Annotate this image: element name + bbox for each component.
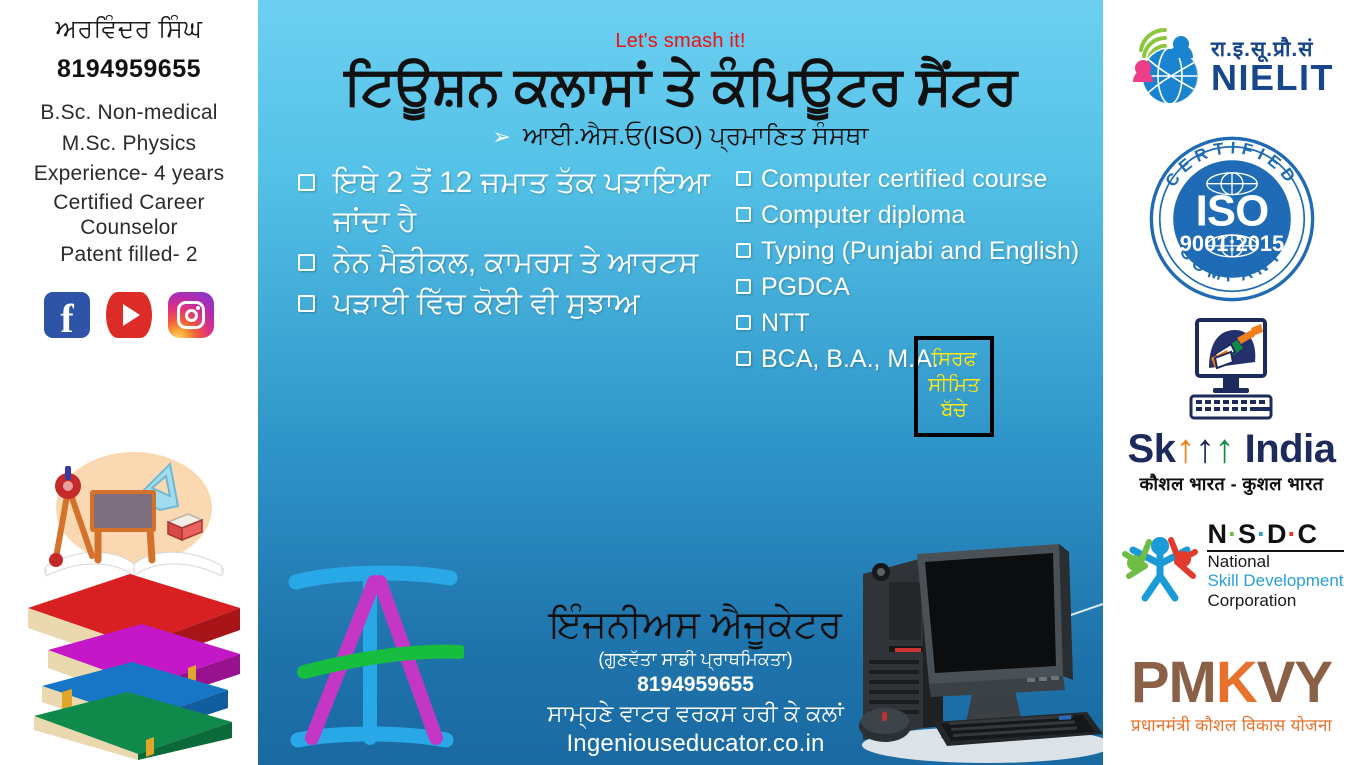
checkbox-icon <box>298 254 315 271</box>
arrow-bullet-icon: ➢ <box>492 124 510 149</box>
list-item: PGDCA <box>736 271 1081 304</box>
credential-5: Patent filled- 2 <box>0 240 258 270</box>
checkbox-icon <box>298 174 315 191</box>
list-item-label: Computer certified course <box>761 163 1047 196</box>
right-sidebar-logos: रा.इ.सू.प्रौ.सं NIELIT CERTIFIED COMPANY <box>1103 0 1360 765</box>
checkbox-icon <box>298 295 315 312</box>
list-item-label: BCA, B.A., M.A. <box>761 343 939 376</box>
list-item: BCA, B.A., M.A. <box>736 343 1081 376</box>
skill-india-bar-green: ↑ <box>1214 427 1234 471</box>
pmkvy-k-figure: K <box>1216 650 1257 715</box>
skill-india-subtitle: कौशल भारत - कुशल भारत <box>1128 472 1336 496</box>
nsdc-line-1: National <box>1207 552 1343 572</box>
skill-india-wrap: Sk↑↑↑ India कौशल भारत - कुशल भारत <box>1128 318 1336 496</box>
iso-center-text: ISO <box>1195 186 1268 235</box>
iso-certified-badge: CERTIFIED COMPANY ISO 9001:2015 <box>1107 126 1357 311</box>
iso-certification-line: ➢ਆਈ.ਐਸ.ਓ(ISO) ਪ੍ਰਮਾਣਿਤ ਸੰਸਥਾ <box>258 122 1103 151</box>
tutor-phone: 8194959655 <box>0 55 258 84</box>
brand-name: ਇੰਜਨੀਅਸ ਐਜੂਕੇਟਰ <box>288 605 1103 647</box>
nsdc-logo: N·S·D·C National Skill Development Corpo… <box>1107 503 1357 628</box>
tutor-name: ਅਰਵਿੰਦਰ ਸਿੰਘ <box>0 14 258 45</box>
list-item: ਪੜਾਈ ਵਿੱਚ ਕੋਈ ਵੀ ਸੁਝਾਅ <box>298 284 714 323</box>
pmkvy-wrap: PMKVY प्रधानमंत्री कौशल विकास योजना <box>1131 655 1332 735</box>
pmkvy-subtitle: प्रधानमंत्री कौशल विकास योजना <box>1131 713 1332 736</box>
checkbox-icon <box>736 315 751 330</box>
nsdc-wrap: N·S·D·C National Skill Development Corpo… <box>1119 520 1343 611</box>
page-title: ਟਿਊਸ਼ਨ ਕਲਾਸਾਂ ਤੇ ਕੰਪਿਊਟਰ ਸੈਂਟਰ <box>258 57 1103 116</box>
credential-0: B.Sc. Non-medical <box>0 98 258 128</box>
iso-certification-text: ਆਈ.ਐਸ.ਓ(ISO) ਪ੍ਰਮਾਣਿਤ ਸੰਸਥਾ <box>523 122 869 150</box>
credential-1: M.Sc. Physics <box>0 129 258 159</box>
brand-tagline: (ਗੁਣਵੱਤਾ ਸਾਡੀ ਪ੍ਰਾਥਮਿਕਤਾ) <box>288 649 1103 671</box>
skill-india-logo: Sk↑↑↑ India कौशल भारत - कुशल भारत <box>1107 311 1357 503</box>
list-item: Computer diploma <box>736 199 1081 232</box>
pmkvy-logo: PMKVY प्रधानमंत्री कौशल विकास योजना <box>1107 628 1357 763</box>
facebook-icon[interactable]: f <box>44 292 90 338</box>
brand-address: ਸਾਮ੍ਹਣੇ ਵਾਟਰ ਵਰਕਸ ਹਰੀ ਕੇ ਕਲਾਂ <box>288 699 1103 728</box>
poster-root: ਅਰਵਿੰਦਰ ਸਿੰਘ 8194959655 B.Sc. Non-medica… <box>0 0 1360 765</box>
checkbox-icon <box>736 243 751 258</box>
tagline: Let's smash it! <box>258 0 1103 51</box>
credential-3: Certified Career <box>0 190 258 215</box>
skill-india-bar-navy: ↑ <box>1195 427 1215 471</box>
instagram-icon[interactable] <box>168 292 214 338</box>
brand-block: ਇੰਜਨੀਅਸ ਐਜੂਕੇਟਰ (ਗੁਣਵੱਤਾ ਸਾਡੀ ਪ੍ਰਾਥਮਿਕਤਾ… <box>258 605 1103 759</box>
list-item-label: Computer diploma <box>761 199 965 232</box>
list-item-label: Typing (Punjabi and English) <box>761 235 1079 268</box>
social-links: f <box>0 292 258 338</box>
list-item-label: ਪੜਾਈ ਵਿੱਚ ਕੋਈ ਵੀ ਸੁਝਾਅ <box>333 284 640 323</box>
nielit-english-text: NIELIT <box>1211 60 1334 96</box>
nsdc-line-2: Skill Development <box>1207 571 1343 591</box>
instagram-lens-glyph <box>185 309 198 322</box>
tuition-column: ਇਥੇ 2 ਤੋਂ 12 ਜਮਾਤ ਤੱਕ ਪੜਾਇਆ ਜਾਂਦਾ ਹੈ ਨੇਨ… <box>284 163 714 379</box>
skill-india-sk-text: Sk <box>1128 427 1176 471</box>
skill-india-india-text: India <box>1234 427 1335 471</box>
checkbox-icon <box>736 171 751 186</box>
nsdc-line-3: Corporation <box>1207 591 1343 611</box>
instagram-dot-glyph <box>196 306 200 310</box>
books-illustration <box>20 448 248 760</box>
center-panel: Let's smash it! ਟਿਊਸ਼ਨ ਕਲਾਸਾਂ ਤੇ ਕੰਪਿਊਟਰ… <box>258 0 1103 765</box>
brand-phone: 8194959655 <box>288 671 1103 699</box>
checkbox-icon <box>736 351 751 366</box>
list-item: NTT <box>736 307 1081 340</box>
credential-2: Experience- 4 years <box>0 159 258 189</box>
list-item-label: NTT <box>761 307 810 340</box>
pmkvy-wordmark: PMKVY <box>1131 655 1332 710</box>
list-item-label: ਨੇਨ ਮੈਡੀਕਲ, ਕਾਮਰਸ ਤੇ ਆਰਟਸ <box>333 243 698 282</box>
list-item: ਇਥੇ 2 ਤੋਂ 12 ਜਮਾਤ ਤੱਕ ਪੜਾਇਆ ਜਾਂਦਾ ਹੈ <box>298 163 714 241</box>
checkbox-icon <box>736 279 751 294</box>
facebook-glyph: f <box>60 299 73 338</box>
brand-website[interactable]: Ingeniouseducator.co.in <box>288 728 1103 759</box>
skill-india-monitor-icon <box>1175 318 1287 424</box>
computer-courses-column: Computer certified course Computer diplo… <box>714 163 1081 379</box>
computer-courses-list: Computer certified course Computer diplo… <box>736 163 1081 376</box>
iso-badge-icon: CERTIFIED COMPANY ISO 9001:2015 <box>1148 135 1316 303</box>
nielit-wordmark: रा.इ.सू.प्रौ.सं NIELIT <box>1211 39 1334 96</box>
tuition-list: ਇਥੇ 2 ਤੋਂ 12 ਜਮਾਤ ਤੱਕ ਪੜਾਇਆ ਜਾਂਦਾ ਹੈ ਨੇਨ… <box>298 163 714 323</box>
credential-4: Counselor <box>0 215 258 240</box>
list-item-label: ਇਥੇ 2 ਤੋਂ 12 ਜਮਾਤ ਤੱਕ ਪੜਾਇਆ ਜਾਂਦਾ ਹੈ <box>333 163 714 241</box>
nsdc-people-icon <box>1119 530 1201 602</box>
nielit-logo: रा.इ.सू.प्रौ.सं NIELIT <box>1107 8 1357 126</box>
skill-india-bar-orange: ↑ <box>1175 427 1195 471</box>
left-sidebar: ਅਰਵਿੰਦਰ ਸਿੰਘ 8194959655 B.Sc. Non-medica… <box>0 0 258 765</box>
list-item: ਨੇਨ ਮੈਡੀਕਲ, ਕਾਮਰਸ ਤੇ ਆਰਟਸ <box>298 243 714 282</box>
skill-india-wordmark: Sk↑↑↑ India <box>1128 429 1336 469</box>
nielit-globe-icon <box>1129 24 1207 110</box>
limited-seats-callout: ਸਿਰਫ ਸੀਮਿਤ ਬੱਚੇ <box>914 336 994 437</box>
list-item: Computer certified course <box>736 163 1081 196</box>
youtube-play-glyph <box>123 304 140 326</box>
list-item-label: PGDCA <box>761 271 850 304</box>
checkbox-icon <box>736 207 751 222</box>
instagram-frame-glyph <box>177 301 205 329</box>
iso-standard-text: 9001:2015 <box>1179 230 1283 255</box>
youtube-icon[interactable] <box>106 292 152 338</box>
nsdc-acronym: N·S·D·C <box>1207 520 1343 551</box>
list-item: Typing (Punjabi and English) <box>736 235 1081 268</box>
nsdc-wordmark: N·S·D·C National Skill Development Corpo… <box>1207 520 1343 611</box>
